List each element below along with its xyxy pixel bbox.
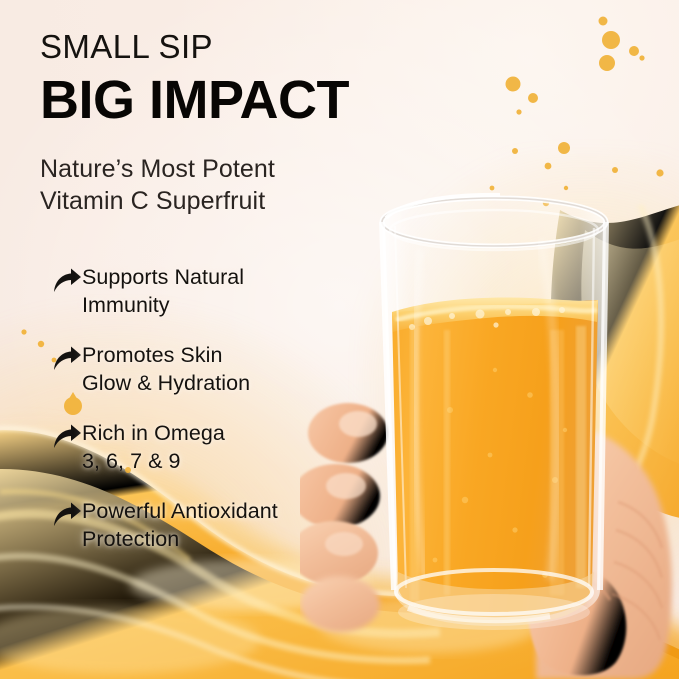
benefit-line-2: Immunity <box>82 293 170 317</box>
benefit-line-1: Powerful Antioxidant <box>82 499 278 523</box>
list-item: Supports Natural Immunity <box>52 264 382 320</box>
product-benefit-poster: SMALL SIP BIG IMPACT Nature’s Most Poten… <box>0 0 679 679</box>
curved-arrow-right-icon <box>52 346 82 372</box>
subtitle-line-1: Nature’s Most Potent <box>40 153 460 185</box>
list-item: Promotes Skin Glow & Hydration <box>52 342 382 398</box>
list-item: Rich in Omega 3, 6, 7 & 9 <box>52 420 382 476</box>
benefit-line-2: Protection <box>82 527 179 551</box>
benefit-text: Supports Natural Immunity <box>82 264 244 320</box>
benefits-list: Supports Natural Immunity Promotes Skin … <box>52 264 382 554</box>
benefit-line-2: 3, 6, 7 & 9 <box>82 449 181 473</box>
subtitle: Nature’s Most Potent Vitamin C Superfrui… <box>40 153 460 217</box>
list-item: Powerful Antioxidant Protection <box>52 498 382 554</box>
benefit-text: Rich in Omega 3, 6, 7 & 9 <box>82 420 225 476</box>
headline-block: SMALL SIP BIG IMPACT Nature’s Most Poten… <box>40 30 460 217</box>
benefit-line-1: Rich in Omega <box>82 421 225 445</box>
curved-arrow-right-icon <box>52 502 82 528</box>
curved-arrow-right-icon <box>52 268 82 294</box>
benefit-line-1: Promotes Skin <box>82 343 222 367</box>
benefit-text: Powerful Antioxidant Protection <box>82 498 278 554</box>
curved-arrow-right-icon <box>52 424 82 450</box>
headline-kicker: SMALL SIP <box>40 30 460 63</box>
subtitle-line-2: Vitamin C Superfruit <box>40 185 460 217</box>
benefit-line-2: Glow & Hydration <box>82 371 250 395</box>
benefit-line-1: Supports Natural <box>82 265 244 289</box>
page-title: BIG IMPACT <box>40 73 460 127</box>
benefit-text: Promotes Skin Glow & Hydration <box>82 342 250 398</box>
